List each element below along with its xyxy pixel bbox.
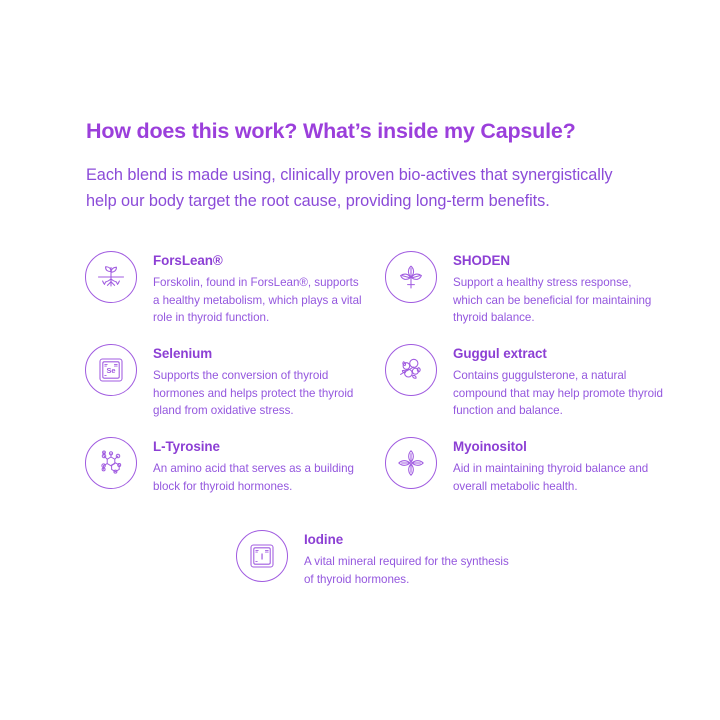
ingredient-description: An amino acid that serves as a building … (153, 455, 363, 495)
page-subtitle: Each blend is made using, clinically pro… (86, 145, 642, 215)
ingredient-description: Support a healthy stress response, which… (453, 269, 663, 327)
ingredient-description: Contains guggulsterone, a natural compou… (453, 362, 663, 420)
ingredient-title: SHODEN (453, 253, 663, 269)
leaf-plant-icon (385, 251, 437, 303)
berry-cluster-icon (385, 344, 437, 396)
ingredient-text: ForsLean® Forskolin, found in ForsLean®,… (137, 250, 363, 327)
ingredient-item-guggul-extract: Guggul extract Contains guggulsterone, a… (385, 343, 675, 420)
ingredient-title: Guggul extract (453, 346, 663, 362)
ingredient-item-myoinositol: Myoinositol Aid in maintaining thyroid b… (385, 436, 675, 495)
ingredient-item-iodine: I Iodine A vital mineral required for th… (236, 529, 526, 588)
ingredient-row: L-Tyrosine An amino acid that serves as … (0, 436, 720, 529)
ingredient-description: Supports the conversion of thyroid hormo… (153, 362, 363, 420)
ingredient-text: Myoinositol Aid in maintaining thyroid b… (437, 436, 663, 495)
ingredient-description: Aid in maintaining thyroid balance and o… (453, 455, 663, 495)
ingredient-title: Selenium (153, 346, 363, 362)
header-block: How does this work? What’s inside my Cap… (86, 118, 646, 215)
ingredient-item-shoden: SHODEN Support a healthy stress response… (385, 250, 675, 327)
ingredient-info-page: How does this work? What’s inside my Cap… (0, 0, 720, 720)
periodic-element-i-icon: I (236, 530, 288, 582)
ingredient-item-selenium: Se Selenium Supports the conversion of t… (85, 343, 375, 420)
ingredient-title: Iodine (304, 532, 514, 548)
ingredient-row: I Iodine A vital mineral required for th… (0, 529, 720, 609)
ingredient-item-l-tyrosine: L-Tyrosine An amino acid that serves as … (85, 436, 375, 495)
ingredient-text: SHODEN Support a healthy stress response… (437, 250, 663, 327)
ingredient-text: Selenium Supports the conversion of thyr… (137, 343, 363, 420)
ingredients-grid: ForsLean® Forskolin, found in ForsLean®,… (0, 250, 720, 609)
ingredient-row: Se Selenium Supports the conversion of t… (0, 343, 720, 436)
element-symbol: Se (106, 366, 115, 375)
ingredient-description: Forskolin, found in ForsLean®, supports … (153, 269, 363, 327)
seedling-roots-icon (85, 251, 137, 303)
element-symbol: I (261, 551, 263, 561)
quatrefoil-flower-icon (385, 437, 437, 489)
ingredient-row: ForsLean® Forskolin, found in ForsLean®,… (0, 250, 720, 343)
ingredient-text: Guggul extract Contains guggulsterone, a… (437, 343, 663, 420)
ingredient-text: L-Tyrosine An amino acid that serves as … (137, 436, 363, 495)
periodic-element-se-icon: Se (85, 344, 137, 396)
ingredient-text: Iodine A vital mineral required for the … (288, 529, 514, 588)
ingredient-description: A vital mineral required for the synthes… (304, 548, 514, 588)
molecule-structure-icon (85, 437, 137, 489)
ingredient-item-forslean: ForsLean® Forskolin, found in ForsLean®,… (85, 250, 375, 327)
ingredient-title: ForsLean® (153, 253, 363, 269)
ingredient-title: Myoinositol (453, 439, 663, 455)
ingredient-title: L-Tyrosine (153, 439, 363, 455)
page-title: How does this work? What’s inside my Cap… (86, 118, 646, 145)
